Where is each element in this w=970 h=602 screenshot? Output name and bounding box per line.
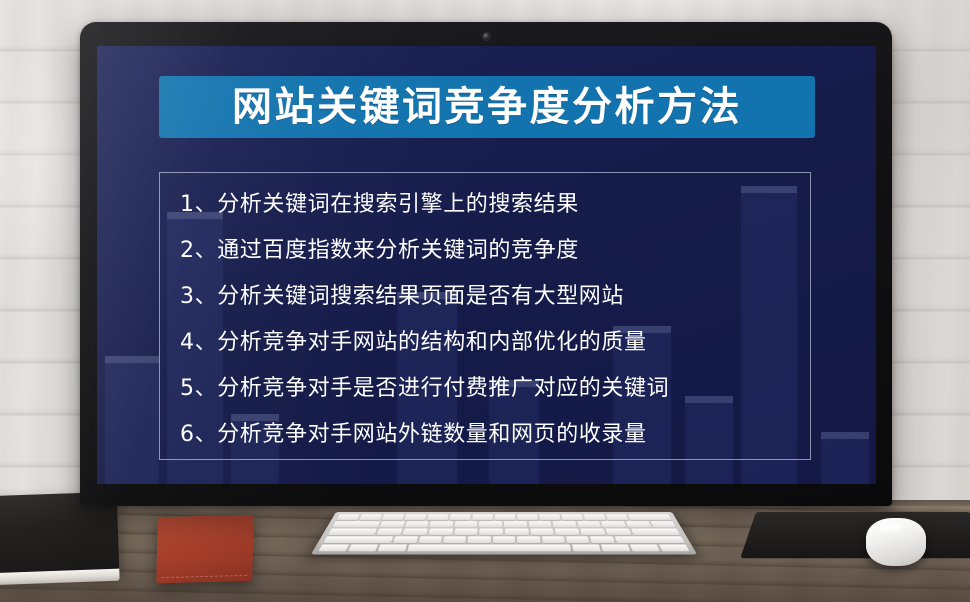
keyboard-key xyxy=(601,544,631,551)
list-item: 3、分析关键词搜索结果页面是否有大型网站 xyxy=(180,285,810,308)
keyboard-key xyxy=(577,521,601,527)
keyboard xyxy=(311,512,697,554)
list-item: 4、分析竞争对手网站的结构和内部优化的质量 xyxy=(180,331,810,354)
keyboard-key xyxy=(359,514,382,520)
desk-scene: 网站关键词竞争度分析方法 1、分析关键词在搜索引擎上的搜索结果 2、通过百度指数… xyxy=(0,0,970,602)
background-bar xyxy=(821,432,869,484)
keyboard-key xyxy=(493,536,516,543)
keyboard-key xyxy=(601,521,626,527)
keyboard-key xyxy=(479,521,502,527)
list-item: 6、分析竞争对手网站外链数量和网页的收录量 xyxy=(180,423,810,446)
keyboard-key xyxy=(615,536,685,543)
keyboard-key xyxy=(572,544,601,551)
keyboard-key xyxy=(468,536,491,543)
keyboard-row xyxy=(332,521,676,527)
keyboard-key xyxy=(580,529,605,535)
list-item: 1、分析关键词在搜索引擎上的搜索结果 xyxy=(180,193,810,216)
webcam-icon xyxy=(483,33,490,40)
keyboard-key xyxy=(449,514,470,520)
keyboard-row xyxy=(328,529,680,535)
red-leather-notebook xyxy=(156,515,254,584)
keyboard-key xyxy=(382,514,405,520)
keyboard-key xyxy=(584,514,606,520)
desktop-monitor: 网站关键词竞争度分析方法 1、分析关键词在搜索引擎上的搜索结果 2、通过百度指数… xyxy=(80,22,892,506)
keyboard-key xyxy=(429,521,453,527)
keyboard-key xyxy=(428,529,453,535)
keyboard-key xyxy=(495,514,516,520)
background-bar-cap xyxy=(821,432,869,439)
background-bar xyxy=(105,356,159,484)
keyboard-key xyxy=(628,514,672,520)
keyboard-key xyxy=(427,514,449,520)
keyboard-key xyxy=(566,536,590,543)
keyboard-key xyxy=(504,521,527,527)
keyboard-key xyxy=(555,529,580,535)
keyboard-key xyxy=(332,521,380,527)
page-title: 网站关键词竞争度分析方法 xyxy=(232,87,742,127)
keyboard-key xyxy=(377,529,403,535)
keyboard-key xyxy=(328,529,378,535)
keyboard-key xyxy=(542,536,565,543)
monitor-screen: 网站关键词竞争度分析方法 1、分析关键词在搜索引擎上的搜索结果 2、通过百度指数… xyxy=(97,46,876,484)
keyboard-key xyxy=(517,514,538,520)
list-item: 5、分析竞争对手是否进行付费推广对应的关键词 xyxy=(180,377,810,400)
spacebar-key xyxy=(407,544,571,551)
keyboard-key xyxy=(380,521,405,527)
keyboard-key xyxy=(479,529,503,535)
keyboard-key xyxy=(403,529,428,535)
background-bar-cap xyxy=(105,356,159,363)
keyboard-key xyxy=(659,544,690,551)
keyboard-key xyxy=(630,544,660,551)
keyboard-key xyxy=(631,529,681,535)
keyboard-key xyxy=(378,544,408,551)
keyboard-key xyxy=(606,514,629,520)
keyboard-key xyxy=(590,536,615,543)
keyboard-key xyxy=(454,529,478,535)
keyboard-key xyxy=(530,529,554,535)
keyboard-key xyxy=(472,514,493,520)
keyboard-key xyxy=(348,544,378,551)
list-item: 2、通过百度指数来分析关键词的竞争度 xyxy=(180,239,810,262)
keyboard-key xyxy=(528,521,551,527)
method-list: 1、分析关键词在搜索引擎上的搜索结果 2、通过百度指数来分析关键词的竞争度 3、… xyxy=(159,172,811,460)
keyboard-key xyxy=(318,544,349,551)
keyboard-key xyxy=(418,536,442,543)
keyboard-key xyxy=(323,536,393,543)
keyboard-row xyxy=(318,544,689,551)
keyboard-key xyxy=(505,529,529,535)
keyboard-key xyxy=(650,521,676,527)
keyboard-key xyxy=(539,514,560,520)
mousepad xyxy=(740,512,970,558)
keyboard-key xyxy=(561,514,583,520)
keyboard-row xyxy=(336,514,671,520)
keyboard-key xyxy=(454,521,477,527)
keyboard-key xyxy=(606,529,632,535)
keyboard-key xyxy=(393,536,418,543)
keyboard-key xyxy=(517,536,540,543)
keyboard-key xyxy=(405,521,429,527)
keyboard-row xyxy=(323,536,685,543)
keyboard-key xyxy=(626,521,651,527)
mouse xyxy=(866,518,926,566)
keyboard-key xyxy=(404,514,426,520)
slide-title-banner: 网站关键词竞争度分析方法 xyxy=(159,76,815,138)
keyboard-key xyxy=(443,536,466,543)
keyboard-key xyxy=(336,514,359,520)
keyboard-key xyxy=(553,521,577,527)
